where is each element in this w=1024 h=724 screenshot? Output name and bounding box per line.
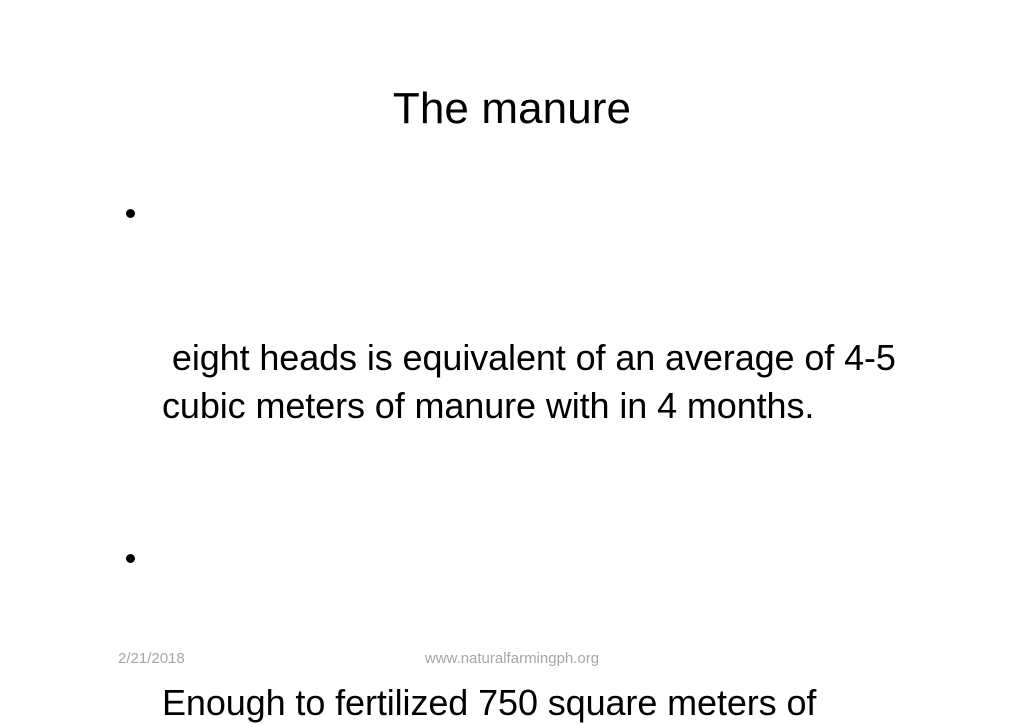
- bullet-list: eight heads is equivalent of an average …: [118, 190, 908, 724]
- list-item: eight heads is equivalent of an average …: [118, 190, 908, 526]
- slide-canvas: The manure eight heads is equivalent of …: [0, 0, 1024, 724]
- list-item: Enough to fertilized 750 square meters o…: [118, 535, 908, 724]
- slide-footer: 2/21/2018 www.naturalfarmingph.org: [0, 650, 1024, 672]
- page-title: The manure: [0, 84, 1024, 135]
- list-item-text: eight heads is equivalent of an average …: [162, 334, 908, 430]
- bullet-dot-icon: [126, 554, 135, 563]
- bullet-dot-icon: [126, 209, 135, 218]
- list-item-text: Enough to fertilized 750 square meters o…: [162, 679, 908, 724]
- footer-url: www.naturalfarmingph.org: [0, 650, 1024, 667]
